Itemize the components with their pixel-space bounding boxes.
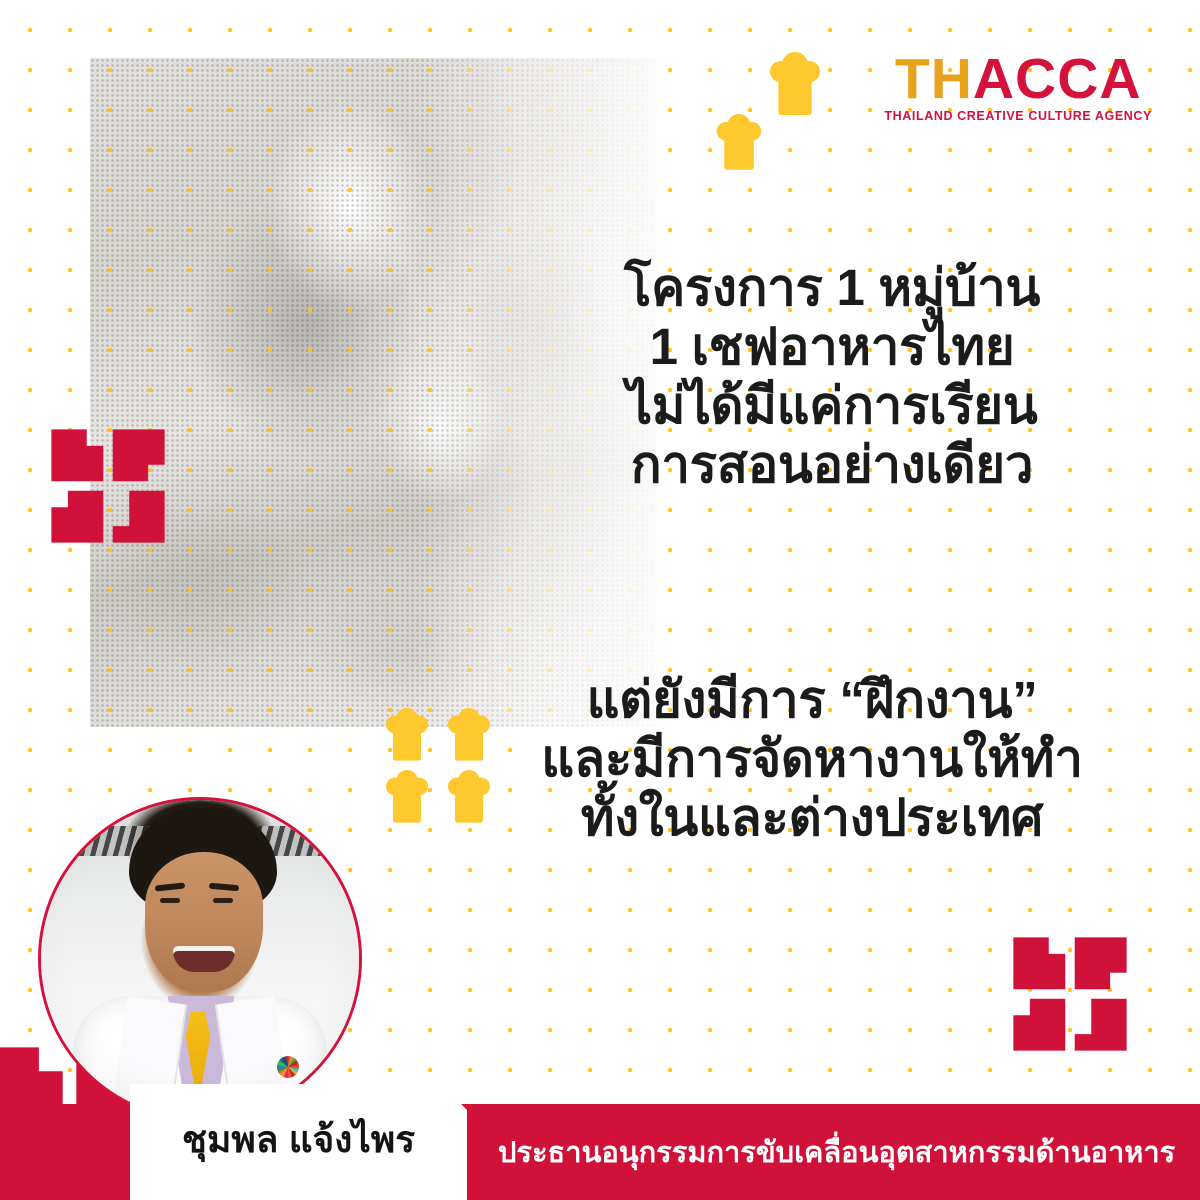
speaker-avatar	[38, 797, 362, 1121]
headline-primary: โครงการ 1 หมู่บ้าน 1 เชฟอาหารไทย ไม่ได้ม…	[522, 258, 1142, 495]
headline-secondary-line-1: แต่ยังมีการ “ฝึกงาน”	[482, 670, 1142, 729]
thacca-logo-letter-t: T	[895, 47, 931, 111]
thacca-logo: THACCA THAILAND CREATIVE CULTURE AGENCY	[884, 52, 1152, 123]
thacca-pinwheel-icon	[47, 427, 169, 545]
chef-hat-icon	[378, 768, 436, 825]
speaker-name-badge: ชุมพล แจ้งไพร	[130, 1084, 467, 1200]
thacca-pinwheel-icon	[1009, 935, 1131, 1053]
headline-primary-line-1: โครงการ 1 หมู่บ้าน	[522, 258, 1142, 317]
headline-primary-line-2: 1 เชฟอาหารไทย	[522, 317, 1142, 376]
chef-hat-icon	[708, 112, 770, 172]
thacca-logo-letter-c2: C	[1057, 47, 1099, 111]
speaker-role: ประธานอนุกรรมการขับเคลื่อนอุตสาหกรรมด้าน…	[498, 1104, 1175, 1200]
chef-hat-icon	[378, 706, 436, 763]
headline-secondary: แต่ยังมีการ “ฝึกงาน” และมีการจัดหางานให้…	[482, 670, 1142, 847]
headline-primary-line-3: ไม่ได้มีแค่การเรียน	[522, 376, 1142, 435]
speaker-name: ชุมพล แจ้งไพร	[182, 1110, 415, 1169]
headline-secondary-line-2: และมีการจัดหางานให้ทำ	[482, 729, 1142, 788]
poster-canvas: THACCA THAILAND CREATIVE CULTURE AGENCY …	[0, 0, 1200, 1200]
avatar-vignette	[41, 800, 359, 1118]
thacca-logo-letter-c1: C	[1015, 47, 1057, 111]
thacca-logo-letter-a1: A	[973, 47, 1015, 111]
headline-primary-line-4: การสอนอย่างเดียว	[522, 435, 1142, 494]
headline-secondary-line-3: ทั้งในและต่างประเทศ	[482, 788, 1142, 847]
thacca-logo-tagline: THAILAND CREATIVE CULTURE AGENCY	[884, 109, 1152, 123]
chef-hat-icon	[760, 50, 830, 118]
thacca-logo-wordmark: THACCA	[884, 52, 1152, 106]
thacca-logo-letter-h: H	[931, 47, 973, 111]
thacca-logo-letter-a2: A	[1099, 47, 1141, 111]
